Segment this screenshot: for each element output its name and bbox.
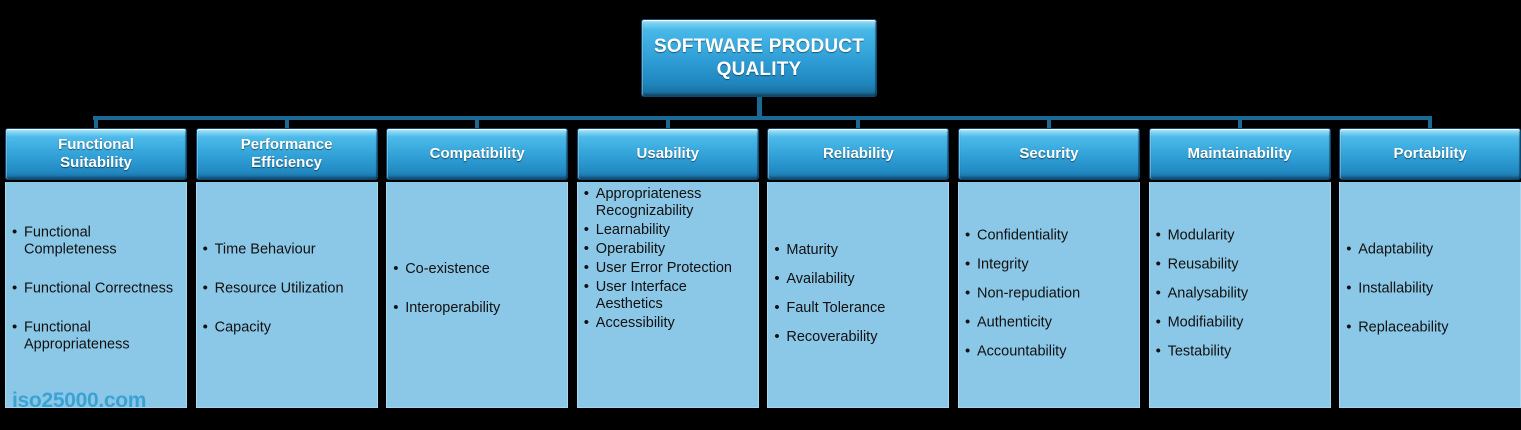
subcharacteristic-item[interactable]: Appropriateness Recognizability <box>578 186 758 220</box>
characteristic-header-line1: Compatibility <box>430 145 525 162</box>
subcharacteristic-item[interactable]: User Interface Aesthetics <box>578 279 758 313</box>
subcharacteristic-item[interactable]: Resource Utilization <box>197 280 377 297</box>
characteristic-column[interactable]: SecurityConfidentialityIntegrityNon-repu… <box>958 128 1140 408</box>
subcharacteristics-list: AdaptabilityInstallabilityReplaceability <box>1340 231 1520 358</box>
subcharacteristic-item[interactable]: Co-existence <box>387 261 567 278</box>
subcharacteristics-list: Time BehaviourResource UtilizationCapaci… <box>197 231 377 358</box>
characteristic-header-line2: Efficiency <box>251 154 322 171</box>
characteristic-header-label: Usability <box>578 145 758 163</box>
characteristic-header-line1: Usability <box>637 145 700 162</box>
characteristic-column[interactable]: UsabilityAppropriateness Recognizability… <box>577 128 759 408</box>
subcharacteristic-item[interactable]: Fault Tolerance <box>768 300 948 317</box>
root-node-label-line1: SOFTWARE PRODUCT <box>654 36 864 57</box>
subcharacteristic-item[interactable]: Maturity <box>768 242 948 259</box>
characteristic-header-line1: Security <box>1019 145 1078 162</box>
characteristic-header[interactable]: Compatibility <box>386 128 568 180</box>
subcharacteristic-item[interactable]: Functional Appropriateness <box>6 319 186 353</box>
subcharacteristics-panel: Appropriateness RecognizabilityLearnabil… <box>577 182 759 408</box>
subcharacteristics-panel: ModularityReusabilityAnalysabilityModifi… <box>1149 182 1331 408</box>
quality-model-diagram: SOFTWARE PRODUCT QUALITY FunctionalSuita… <box>0 0 1521 430</box>
subcharacteristics-panel: ConfidentialityIntegrityNon-repudiationA… <box>958 182 1140 408</box>
characteristic-header-line1: Portability <box>1394 145 1467 162</box>
characteristic-header-label: PerformanceEfficiency <box>197 136 377 172</box>
subcharacteristics-list: MaturityAvailabilityFault ToleranceRecov… <box>768 232 948 358</box>
characteristic-column[interactable]: FunctionalSuitabilityFunctional Complete… <box>5 128 187 408</box>
characteristic-header[interactable]: FunctionalSuitability <box>5 128 187 180</box>
subcharacteristic-item[interactable]: Modifiability <box>1150 314 1330 331</box>
subcharacteristic-item[interactable]: Analysability <box>1150 285 1330 302</box>
subcharacteristics-panel: Co-existenceInteroperability <box>386 182 568 408</box>
characteristic-header-line1: Reliability <box>823 145 894 162</box>
root-node-software-product-quality[interactable]: SOFTWARE PRODUCT QUALITY <box>641 19 877 97</box>
subcharacteristics-panel: Time BehaviourResource UtilizationCapaci… <box>196 182 378 408</box>
characteristic-header-label: Compatibility <box>387 145 567 163</box>
subcharacteristic-item[interactable]: Operability <box>578 241 758 258</box>
watermark-iso25000: iso25000.com <box>12 389 146 408</box>
characteristic-header-label: Maintainability <box>1150 145 1330 163</box>
root-node-label: SOFTWARE PRODUCT QUALITY <box>642 35 876 81</box>
subcharacteristics-list: Co-existenceInteroperability <box>387 251 567 339</box>
subcharacteristics-panel: MaturityAvailabilityFault ToleranceRecov… <box>767 182 949 408</box>
subcharacteristics-list: Functional CompletenessFunctional Correc… <box>6 214 186 375</box>
subcharacteristic-item[interactable]: Time Behaviour <box>197 241 377 258</box>
characteristic-column[interactable]: PerformanceEfficiencyTime BehaviourResou… <box>196 128 378 408</box>
characteristic-column[interactable]: CompatibilityCo-existenceInteroperabilit… <box>386 128 568 408</box>
characteristic-header-label: Reliability <box>768 145 948 163</box>
subcharacteristics-panel: AdaptabilityInstallabilityReplaceability <box>1339 182 1521 408</box>
subcharacteristic-item[interactable]: Testability <box>1150 343 1330 360</box>
subcharacteristics-list: Appropriateness RecognizabilityLearnabil… <box>578 182 758 332</box>
characteristic-header-line1: Performance <box>241 136 333 153</box>
subcharacteristic-item[interactable]: Confidentiality <box>959 227 1139 244</box>
characteristic-header-label: Security <box>959 145 1139 163</box>
subcharacteristic-item[interactable]: Interoperability <box>387 300 567 317</box>
subcharacteristic-item[interactable]: User Error Protection <box>578 260 758 277</box>
subcharacteristic-item[interactable]: Adaptability <box>1340 241 1520 258</box>
characteristic-header[interactable]: Security <box>958 128 1140 180</box>
characteristic-header-line1: Maintainability <box>1188 145 1292 162</box>
subcharacteristic-item[interactable]: Authenticity <box>959 314 1139 331</box>
subcharacteristic-item[interactable]: Accessibility <box>578 315 758 332</box>
subcharacteristics-panel: Functional CompletenessFunctional Correc… <box>5 182 187 408</box>
subcharacteristic-item[interactable]: Availability <box>768 271 948 288</box>
subcharacteristic-item[interactable]: Recoverability <box>768 329 948 346</box>
characteristic-header[interactable]: Reliability <box>767 128 949 180</box>
characteristic-header[interactable]: Maintainability <box>1149 128 1331 180</box>
subcharacteristic-item[interactable]: Functional Completeness <box>6 224 186 258</box>
subcharacteristics-list: ModularityReusabilityAnalysabilityModifi… <box>1150 217 1330 372</box>
subcharacteristic-item[interactable]: Learnability <box>578 222 758 239</box>
subcharacteristic-item[interactable]: Replaceability <box>1340 319 1520 336</box>
characteristic-column[interactable]: MaintainabilityModularityReusabilityAnal… <box>1149 128 1331 408</box>
subcharacteristics-list: ConfidentialityIntegrityNon-repudiationA… <box>959 217 1139 372</box>
subcharacteristic-item[interactable]: Modularity <box>1150 227 1330 244</box>
root-node-label-line2: QUALITY <box>717 59 802 80</box>
characteristic-header-line1: Functional <box>58 136 134 153</box>
characteristic-column[interactable]: ReliabilityMaturityAvailabilityFault Tol… <box>767 128 949 408</box>
characteristic-header-label: FunctionalSuitability <box>6 136 186 172</box>
subcharacteristic-item[interactable]: Integrity <box>959 256 1139 273</box>
subcharacteristic-item[interactable]: Accountability <box>959 343 1139 360</box>
characteristic-header[interactable]: Portability <box>1339 128 1521 180</box>
subcharacteristic-item[interactable]: Functional Correctness <box>6 280 186 297</box>
subcharacteristic-item[interactable]: Installability <box>1340 280 1520 297</box>
subcharacteristic-item[interactable]: Capacity <box>197 319 377 336</box>
characteristic-column[interactable]: PortabilityAdaptabilityInstallabilityRep… <box>1339 128 1521 408</box>
subcharacteristic-item[interactable]: Reusability <box>1150 256 1330 273</box>
connector-horizontal-bus <box>93 116 1430 120</box>
characteristic-header-label: Portability <box>1340 145 1520 163</box>
characteristic-header-line2: Suitability <box>60 154 132 171</box>
subcharacteristic-item[interactable]: Non-repudiation <box>959 285 1139 302</box>
characteristic-header[interactable]: PerformanceEfficiency <box>196 128 378 180</box>
characteristic-header[interactable]: Usability <box>577 128 759 180</box>
